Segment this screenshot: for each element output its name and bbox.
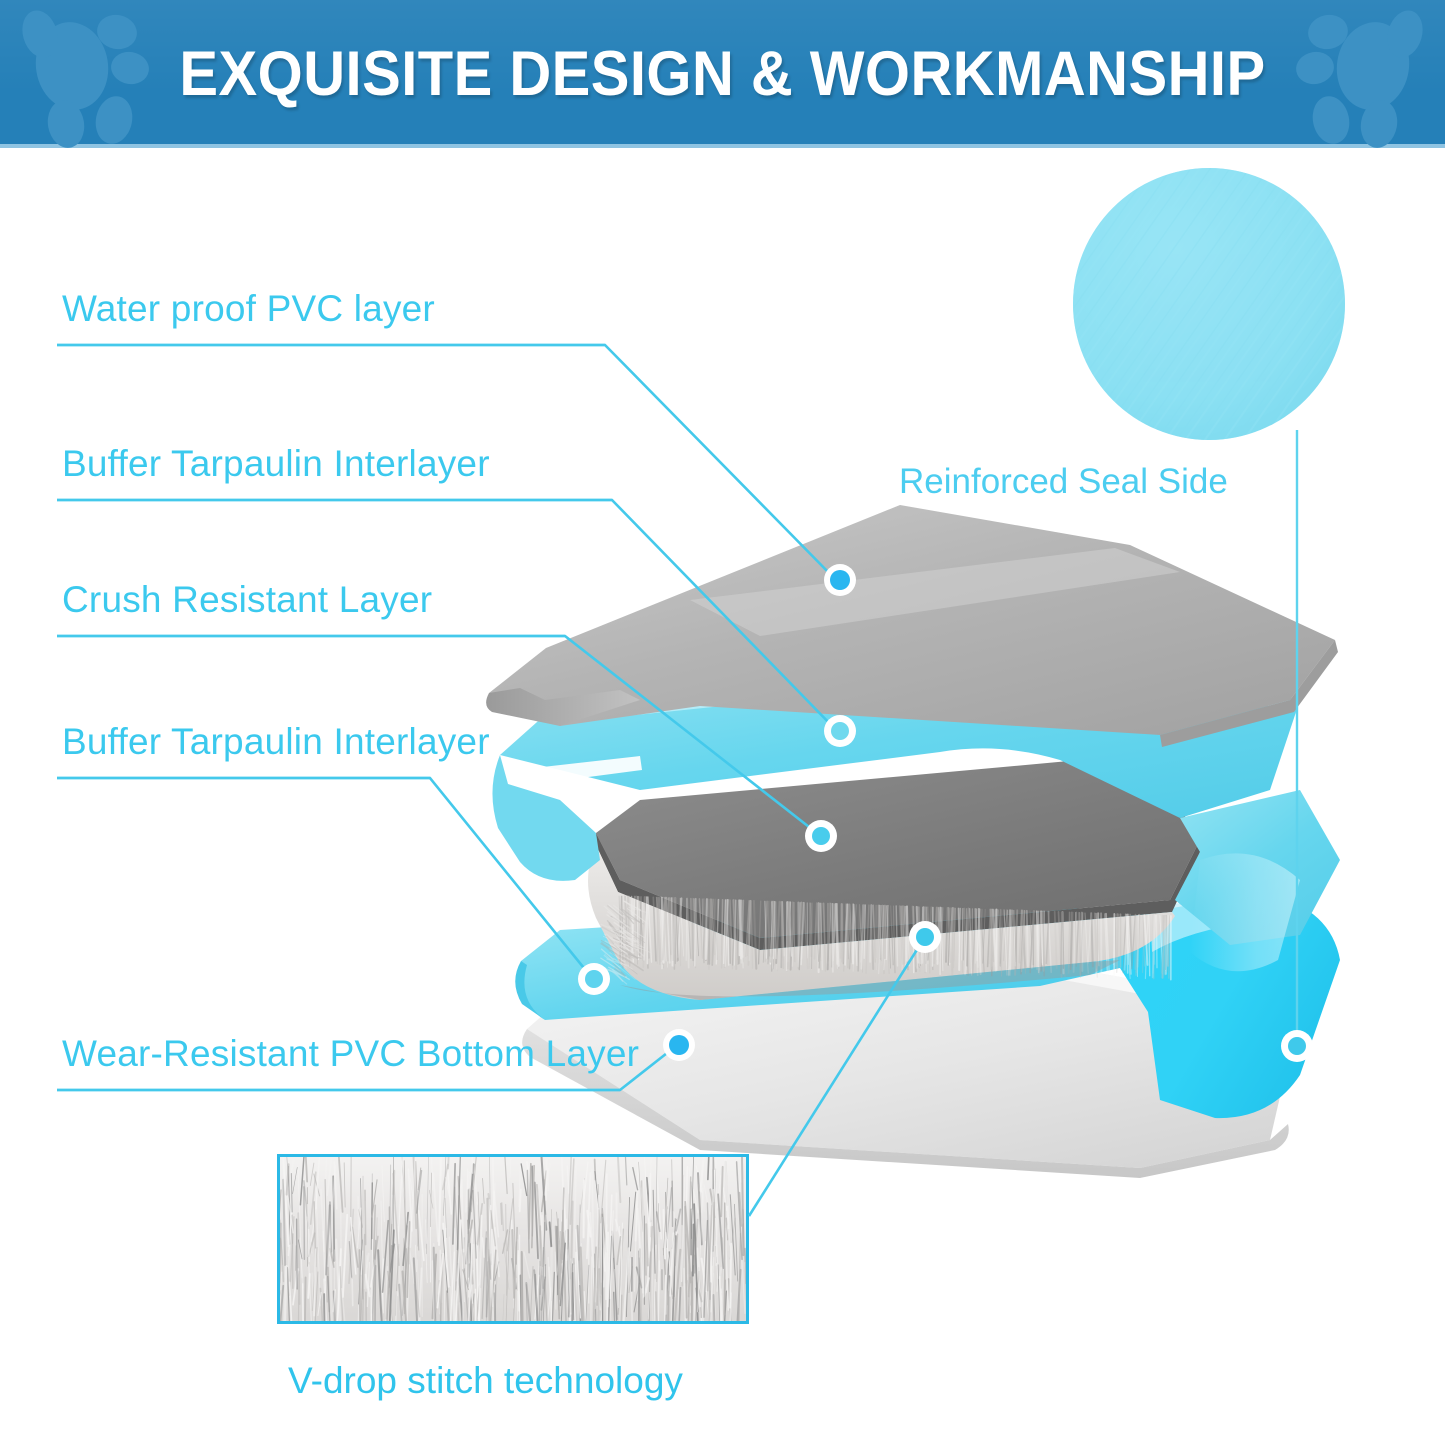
marker-reinforced-seal [1281,1030,1313,1062]
layer-buffer-tarpaulin-bottom [515,893,1340,1118]
label-wear-resistant-pvc: Wear-Resistant PVC Bottom Layer [62,1033,639,1075]
header-banner: EXQUISITE DESIGN & WORKMANSHIP [0,0,1445,148]
label-v-drop-stitch: V-drop stitch technology [288,1360,683,1402]
reinforced-seal-zoom-inset [1073,168,1345,440]
label-buffer-tarpaulin-bottom: Buffer Tarpaulin Interlayer [62,721,490,763]
label-crush-resistant: Crush Resistant Layer [62,579,432,621]
layer-waterproof-pvc-top [486,505,1338,747]
v-drop-stitch-swatch [277,1154,749,1324]
seal-glow [1190,853,1300,971]
label-buffer-tarpaulin-top: Buffer Tarpaulin Interlayer [62,443,490,485]
layer-buffer-tarpaulin-top [492,660,1340,945]
label-waterproof-pvc: Water proof PVC layer [62,288,435,330]
marker-waterproof-pvc [824,564,856,596]
marker-buffer-tarpaulin-bottom [578,963,610,995]
label-reinforced-seal-side: Reinforced Seal Side [899,462,1228,502]
layer-crush-resistant-core [588,760,1200,1000]
marker-drop-stitch-side [909,921,941,953]
marker-crush-resistant [805,820,837,852]
page-title: EXQUISITE DESIGN & WORKMANSHIP [58,0,1387,148]
marker-wear-resistant-bottom [663,1029,695,1061]
infographic-canvas: EXQUISITE DESIGN & WORKMANSHIP [0,0,1445,1445]
marker-buffer-tarpaulin-top [824,715,856,747]
layer-marker-dots [578,564,1313,1062]
